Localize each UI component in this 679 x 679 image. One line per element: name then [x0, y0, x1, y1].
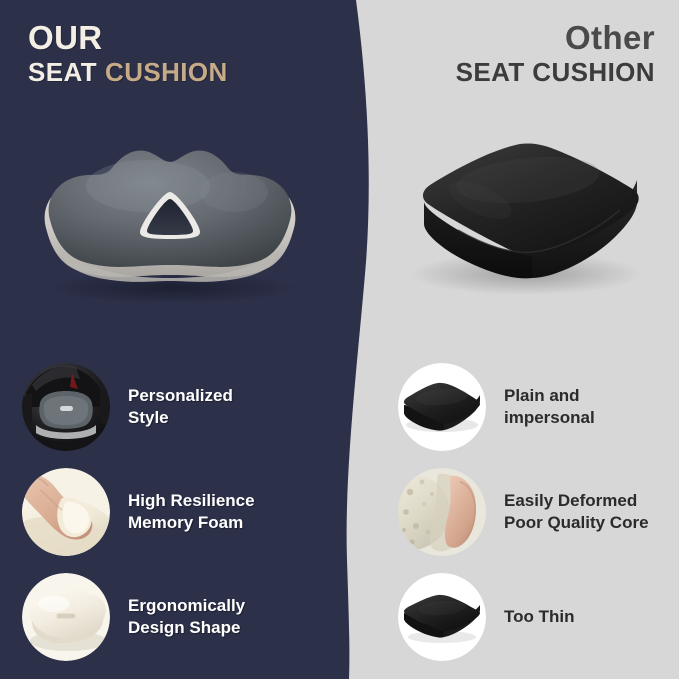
feature-row-ergonomic-shape: Ergonomically Design Shape [22, 573, 245, 661]
feature-row-personalized-style: Personalized Style [22, 363, 233, 451]
feature-row-too-thin: Too Thin [398, 573, 575, 661]
feature-row-plain-impersonal: Plain and impersonal [398, 363, 595, 451]
cushion-word: CUSHION [105, 57, 228, 87]
feature-row-memory-foam: High Resilience Memory Foam [22, 468, 255, 556]
feature-label: Ergonomically Design Shape [128, 595, 245, 640]
car-seat-thumb-icon [22, 363, 110, 451]
other-subtitle-text: SEAT CUSHION [456, 57, 655, 87]
black-cushion-thumb-icon [398, 363, 486, 451]
other-word: Other [565, 19, 655, 56]
feature-label: Personalized Style [128, 385, 233, 430]
foam-core-thumb-icon [22, 573, 110, 661]
feature-label: Plain and impersonal [504, 385, 595, 430]
left-header: OUR SEATCUSHION [28, 20, 228, 89]
seat-word: SEAT [28, 57, 97, 87]
hand-pressing-foam-thumb-icon [22, 468, 110, 556]
our-title: OUR [28, 20, 228, 57]
other-cushion-hero-image [408, 128, 658, 303]
our-subtitle: SEATCUSHION [28, 57, 228, 89]
thin-cushion-thumb-icon [398, 573, 486, 661]
right-header: Other SEAT CUSHION [456, 20, 655, 89]
our-word: OUR [28, 19, 103, 56]
our-cushion-hero-image [30, 120, 310, 305]
poor-quality-foam-thumb-icon [398, 468, 486, 556]
feature-label: High Resilience Memory Foam [128, 490, 255, 535]
feature-row-easily-deformed: Easily Deformed Poor Quality Core [398, 468, 649, 556]
other-subtitle: SEAT CUSHION [456, 57, 655, 89]
feature-label: Easily Deformed Poor Quality Core [504, 490, 649, 535]
comparison-infographic: OUR SEATCUSHION Other SEAT CUSHION [0, 0, 679, 679]
other-title: Other [456, 20, 655, 57]
feature-label: Too Thin [504, 606, 575, 628]
